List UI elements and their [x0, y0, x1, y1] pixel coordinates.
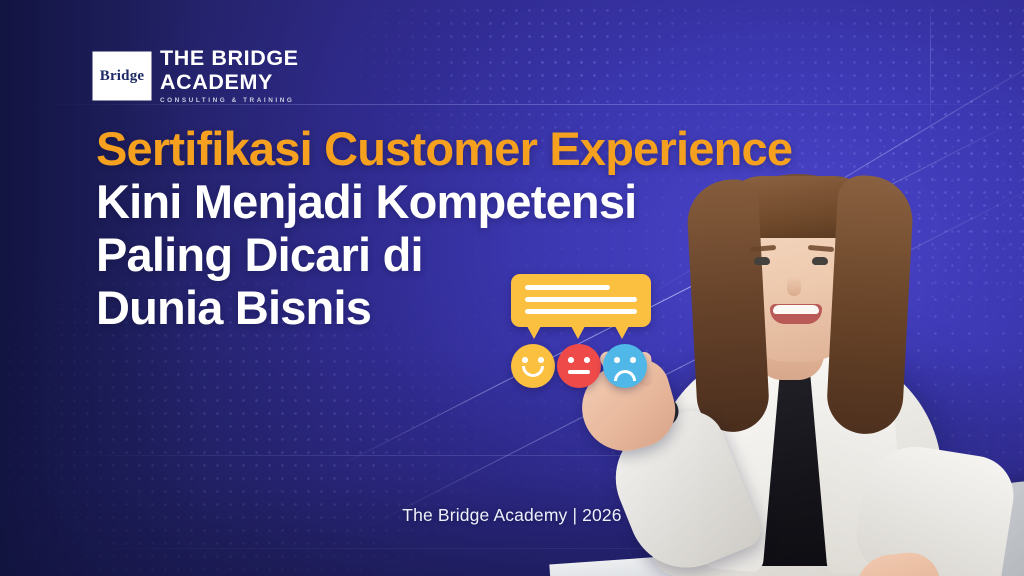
brand-wordmark: THE BRIDGE ACADEMY CONSULTING & TRAINING [160, 48, 299, 104]
bridge-logo-mark: Bridge [95, 54, 149, 98]
bubble-tail [571, 326, 585, 339]
eye [522, 357, 528, 363]
brand-name-line2: ACADEMY [160, 72, 299, 94]
footer-credit: The Bridge Academy | 2026 [0, 505, 1024, 526]
eye [630, 357, 636, 363]
eye [568, 357, 574, 363]
brand-logo[interactable]: Bridge THE BRIDGE ACADEMY CONSULTING & T… [95, 48, 299, 104]
happy-face-icon [511, 344, 555, 388]
headline-line-2: Kini Menjadi Kompetensi [96, 175, 896, 228]
eye [614, 357, 620, 363]
brand-name-line1: THE BRIDGE [160, 48, 299, 70]
brand-tagline: CONSULTING & TRAINING [160, 98, 299, 104]
headline-line-4: Dunia Bisnis [96, 281, 896, 334]
bubble-text-line [525, 285, 610, 290]
smile-mouth [522, 366, 544, 377]
bubble-text-line [525, 297, 637, 302]
bubble-tail [527, 326, 541, 339]
eye [538, 357, 544, 363]
speech-bubble-icon [511, 274, 651, 327]
sad-face-icon [603, 344, 647, 388]
frown-mouth [614, 370, 636, 381]
slide-canvas: Bridge THE BRIDGE ACADEMY CONSULTING & T… [0, 0, 1024, 576]
customer-feedback-graphic [505, 274, 657, 392]
bubble-text-line [525, 309, 637, 314]
neutral-face-icon [557, 344, 601, 388]
headline-line-3: Paling Dicari di [96, 228, 896, 281]
headline-line-1: Sertifikasi Customer Experience [96, 122, 896, 175]
neutral-mouth [568, 370, 590, 374]
headline-block: Sertifikasi Customer Experience Kini Men… [96, 122, 896, 334]
eye [584, 357, 590, 363]
logo-mark-text: Bridge [100, 68, 145, 85]
bubble-tail [615, 326, 629, 339]
